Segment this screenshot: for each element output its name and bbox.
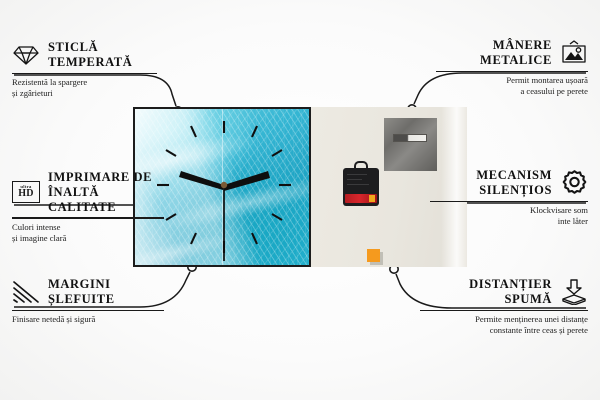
callout-subtitle: Permit montarea ușoară a ceasului pe per…: [436, 75, 588, 98]
callout-rule: [12, 73, 157, 75]
callout-title: DISTANȚIER SPUMĂ: [469, 277, 552, 307]
callout-rule: [430, 201, 588, 203]
callout-rule: [12, 217, 164, 219]
polished-edge-icon: [12, 278, 40, 306]
battery: [345, 194, 377, 203]
callout-title: MÂNERE METALICE: [480, 38, 552, 68]
diamond-icon: [12, 41, 40, 69]
gear-icon: [560, 169, 588, 197]
callout-foam-spacer: DISTANȚIER SPUMĂ Permite menținerea unei…: [420, 277, 588, 337]
callout-header: MECANISM SILENȚIOS: [430, 168, 588, 198]
mechanism-detail-line: [347, 174, 367, 175]
callout-hd-print: ultra HD IMPRIMARE DE ÎNALTĂ CALITATE Cu…: [12, 170, 164, 245]
callout-tempered-glass: STICLĂ TEMPERATĂ Rezistentă la spargere …: [12, 40, 157, 100]
callout-rule: [12, 310, 164, 312]
callout-subtitle: Klockvisare som inte låter: [430, 205, 588, 228]
callout-header: DISTANȚIER SPUMĂ: [420, 277, 588, 307]
clock-mechanism: [343, 168, 379, 206]
callout-silent-mechanism: MECANISM SILENȚIOS Klockvisare som inte …: [430, 168, 588, 228]
badge-hd-label: HD: [18, 189, 33, 199]
callout-title: MECANISM SILENȚIOS: [476, 168, 552, 198]
callout-rule: [420, 310, 588, 312]
callout-header: MARGINI ȘLEFUITE: [12, 277, 164, 307]
clock-center-cap: [221, 182, 227, 188]
foam-spacer-icon: [560, 278, 588, 306]
callout-subtitle: Rezistentă la spargere și zgârieturi: [12, 77, 157, 100]
callout-title: IMPRIMARE DE ÎNALTĂ CALITATE: [48, 170, 164, 214]
hanger-slot: [393, 134, 427, 142]
product-photo: [133, 107, 467, 267]
callout-header: MÂNERE METALICE: [436, 38, 588, 68]
hour-hand: [224, 171, 270, 191]
mechanism-detail-line: [347, 179, 362, 180]
callout-title: MARGINI ȘLEFUITE: [48, 277, 115, 307]
mechanism-detail-line: [347, 184, 369, 185]
picture-hanger-icon: [560, 39, 588, 67]
callout-title: STICLĂ TEMPERATĂ: [48, 40, 132, 70]
callout-subtitle: Culori intense și imagine clară: [12, 222, 164, 245]
callout-polished-edges: MARGINI ȘLEFUITE Finisare netedă și sigu…: [12, 277, 164, 325]
callout-header: STICLĂ TEMPERATĂ: [12, 40, 157, 70]
callout-subtitle: Permite menținerea unei distanțe constan…: [420, 314, 588, 337]
ultra-hd-badge-icon: ultra HD: [12, 178, 40, 206]
minute-hand: [179, 171, 224, 190]
foam-spacer-pad: [367, 249, 380, 262]
metal-hanger-plate: [384, 118, 437, 171]
callout-subtitle: Finisare netedă și sigură: [12, 314, 164, 325]
callout-metal-handles: MÂNERE METALICE Permit montarea ușoară a…: [436, 38, 588, 98]
callout-header: ultra HD IMPRIMARE DE ÎNALTĂ CALITATE: [12, 170, 164, 214]
callout-rule: [436, 71, 588, 73]
mechanism-hook: [354, 161, 368, 170]
infographic-canvas: STICLĂ TEMPERATĂ Rezistentă la spargere …: [0, 0, 600, 400]
